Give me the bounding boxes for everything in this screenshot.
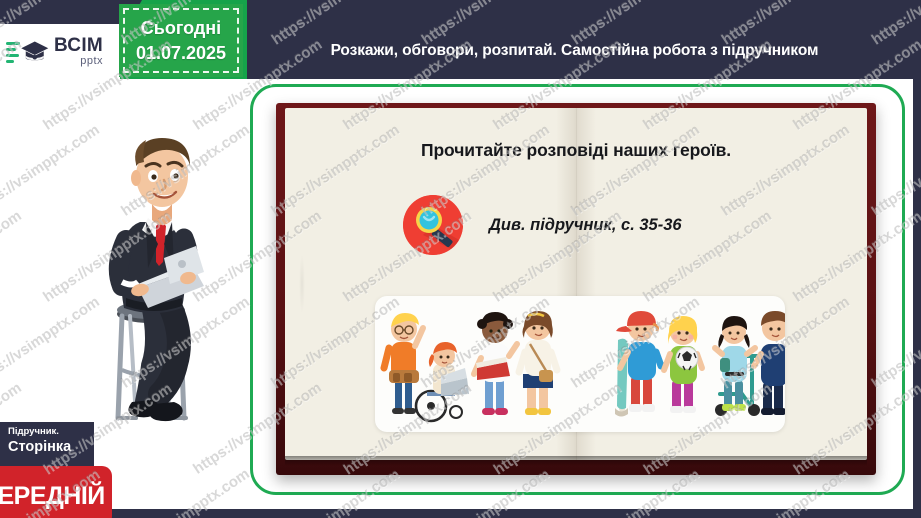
slide-title-strip: Розкажи, обговори, розпитай. Самостійна … xyxy=(252,33,897,69)
magnifier-icon xyxy=(403,195,463,255)
kid-boy-reading-book xyxy=(474,312,517,415)
textbook-label: Підручник. xyxy=(8,425,88,438)
book-heading: Прочитайте розповіді наших героїв. xyxy=(285,140,867,161)
red-badge-text: ПЕРЕДНІЙ xyxy=(0,482,105,511)
book-hint-text: Див. підручник, с. 35-36 xyxy=(489,216,682,235)
brand-logo-text: ВСІМ pptx xyxy=(54,36,103,67)
kid-boy-in-dark-jacket xyxy=(754,311,785,415)
book-pages: Прочитайте розповіді наших героїв. Див. … xyxy=(285,108,867,460)
kids-illustration-panel xyxy=(375,296,785,432)
today-label: Сьогодні xyxy=(141,18,221,39)
red-footer-badge: ПЕРЕДНІЙ xyxy=(0,466,112,518)
man-on-stool-with-laptop xyxy=(96,118,246,448)
graduation-cap-glyph xyxy=(19,39,49,65)
open-book: Прочитайте розповіді наших героїв. Див. … xyxy=(276,103,876,475)
kid-girl-in-wheelchair-with-laptop xyxy=(416,342,469,421)
book-hint-row: Див. підручник, с. 35-36 xyxy=(403,190,823,260)
brand-name: ВСІМ xyxy=(54,36,103,55)
today-date: 01.07.2025 xyxy=(136,43,226,64)
brand-sub: pptx xyxy=(54,56,103,67)
slide-root: ВСІМ pptx Сьогодні 01.07.2025 Розкажи, о… xyxy=(0,0,921,518)
kids-illustration xyxy=(375,296,785,432)
textbook-page-label: Підручник. Сторінка xyxy=(0,422,94,466)
page-label: Сторінка xyxy=(8,438,88,456)
page-title: Розкажи, обговори, розпитай. Самостійна … xyxy=(331,42,819,60)
kid-girl-with-shoulder-bag xyxy=(519,311,557,415)
today-date-badge: Сьогодні 01.07.2025 xyxy=(119,4,243,77)
kid-girl-with-soccer-ball xyxy=(664,316,702,413)
kid-boy-with-skateboard xyxy=(615,311,661,417)
graduation-cap-icon xyxy=(6,35,50,69)
brand-logo[interactable]: ВСІМ pptx xyxy=(0,24,120,79)
